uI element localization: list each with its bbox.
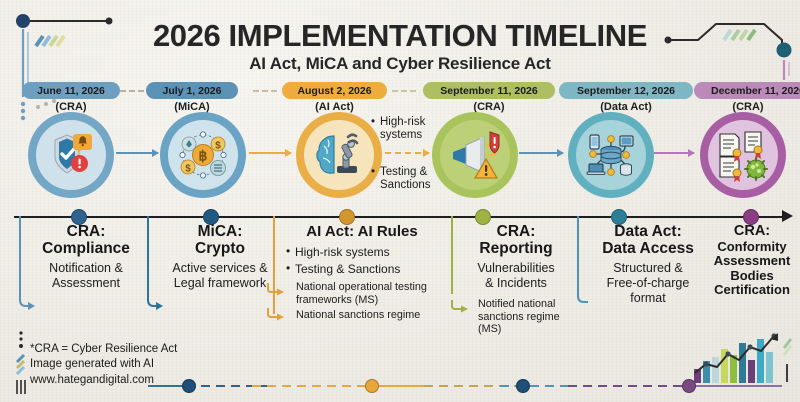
circle-connector-2-3 xyxy=(385,152,429,154)
icon-circle-4[interactable] xyxy=(568,112,654,198)
column-3-heading-line1: CRA: xyxy=(458,224,574,241)
bottom-track-segment-7 xyxy=(690,385,782,387)
mid-callout-bullet-1: • High-risk systems xyxy=(380,116,458,142)
infographic-canvas: 2026 IMPLEMENTATION TIMELINE AI Act, MiC… xyxy=(0,0,800,402)
column-5-heading-line2: Conformity Assessment Bodies Certificati… xyxy=(706,240,798,297)
icon-circle-5[interactable] xyxy=(700,112,786,198)
column-4-heading: Data Act: Data Access xyxy=(580,224,706,257)
column-0-elbow-arrow xyxy=(16,216,38,316)
data-network-icon xyxy=(582,126,640,184)
column-4-heading-line2: Data Access xyxy=(590,241,706,258)
shield-check-icon xyxy=(43,127,99,183)
milestone-column-5: CRA: Conformity Assessment Bodies Certif… xyxy=(706,224,798,297)
mid-callout-bullet-2: • Testing & Sanctions xyxy=(380,166,458,192)
column-3-heading: CRA: Reporting xyxy=(450,224,574,257)
column-1-heading: MiCA: Crypto xyxy=(150,224,282,257)
bottom-left-edge-decoration xyxy=(14,330,44,398)
column-3-line xyxy=(448,216,458,294)
column-5-heading: CRA: Conformity Assessment Bodies Certif… xyxy=(706,224,798,297)
page-title: 2026 IMPLEMENTATION TIMELINE xyxy=(0,20,800,51)
date-badge-4-label: September 12, 2026 xyxy=(577,85,675,97)
date-badge-2[interactable]: August 2, 2026 xyxy=(282,82,387,99)
circle-connector-0-1 xyxy=(116,152,158,154)
page-subtitle: AI Act, MiCA and Cyber Resilience Act xyxy=(0,54,800,74)
bottom-track-segment-2 xyxy=(252,385,370,387)
footer-line-1: *CRA = Cyber Resilience Act xyxy=(30,342,177,357)
date-badge-row: June 11, 2026 (CRA) July 1, 2026 (MiCA) … xyxy=(0,82,800,114)
column-1-summary: Active services & Legal framework xyxy=(150,261,282,291)
svg-text:$: $ xyxy=(215,141,221,152)
column-1-heading-line2: Crypto xyxy=(158,241,282,258)
circle-connector-4-5 xyxy=(654,152,694,154)
circle-connector-3-4 xyxy=(519,152,563,154)
column-1-heading-line1: MiCA: xyxy=(158,224,282,241)
bottom-right-edge-decoration xyxy=(782,336,800,398)
badge-connector-1 xyxy=(120,90,144,92)
icon-circle-2[interactable] xyxy=(296,112,382,198)
column-0-heading: CRA: Compliance xyxy=(22,224,142,257)
growth-chart-decoration xyxy=(690,333,790,383)
column-4-elbow-arrow xyxy=(574,216,598,312)
svg-text:฿: ฿ xyxy=(199,149,208,165)
date-badge-0-label: June 11, 2026 xyxy=(37,85,105,97)
column-0-heading-line1: CRA: xyxy=(30,224,142,241)
bottom-track-dot-0[interactable] xyxy=(182,379,196,393)
column-2-subnote-arrow-1 xyxy=(266,307,286,321)
column-2-subnote-1: National sanctions regime xyxy=(294,309,444,322)
column-0-summary: Notification & Assessment xyxy=(22,261,142,291)
mid-callout-bullet-2-label: Testing & Sanctions xyxy=(380,166,431,191)
timeline-node-3[interactable] xyxy=(475,209,491,225)
column-0-heading-line2: Compliance xyxy=(30,241,142,258)
column-2-bullet-1: Testing & Sanctions xyxy=(286,262,444,277)
date-badge-5[interactable]: December 11, 2026 xyxy=(694,82,800,99)
column-3-heading-line2: Reporting xyxy=(458,241,574,258)
column-4-summary-line1: Structured & xyxy=(590,261,706,276)
milestone-column-0: CRA: Compliance Notification & Assessmen… xyxy=(22,224,142,291)
milestone-column-4: Data Act: Data Access Structured & Free-… xyxy=(580,224,706,306)
column-5-heading-line1: CRA: xyxy=(706,224,798,240)
ai-brain-robot-icon xyxy=(310,126,368,184)
crypto-network-icon: ฿ $ $ xyxy=(174,126,232,184)
column-2-bullets: High-risk systems Testing & Sanctions xyxy=(272,245,444,277)
badge-connector-2 xyxy=(253,90,277,92)
column-2-heading: AI Act: AI Rules xyxy=(272,224,444,240)
column-3-subnote-arrow-0 xyxy=(450,299,470,313)
column-2-heading-line1: AI Act: AI Rules xyxy=(280,224,444,240)
column-1-elbow-arrow xyxy=(144,216,166,316)
date-badge-2-label: August 2, 2026 xyxy=(297,85,371,97)
date-badge-3-label: September 11, 2026 xyxy=(440,85,537,97)
bottom-track-segment-6 xyxy=(568,385,698,387)
column-3-subnotes: Notified national sanctions regime (MS) xyxy=(450,298,574,336)
column-3-summary-line1: Vulnerabilities xyxy=(458,261,574,276)
column-2-subnotes: National operational testing frameworks … xyxy=(272,281,444,322)
column-2-subnote-0: National operational testing frameworks … xyxy=(294,281,444,306)
bottom-track-segment-0 xyxy=(148,385,186,387)
column-2-bullet-0: High-risk systems xyxy=(286,245,444,260)
column-0-summary-line1: Notification & xyxy=(30,261,142,276)
icon-circle-0[interactable] xyxy=(28,112,114,198)
certificate-docs-icon xyxy=(714,126,772,184)
icon-circle-1[interactable]: ฿ $ $ xyxy=(160,112,246,198)
footer-notes: *CRA = Cyber Resilience Act Image genera… xyxy=(30,342,177,388)
column-4-summary: Structured & Free-of-charge format xyxy=(580,261,706,306)
footer-line-2: Image generated with AI xyxy=(30,357,177,372)
date-badge-3[interactable]: September 11, 2026 xyxy=(423,82,555,99)
circle-connector-1-2 xyxy=(249,152,291,154)
milestone-column-2: AI Act: AI Rules High-risk systems Testi… xyxy=(272,224,444,325)
column-4-summary-line2: Free-of-charge format xyxy=(590,276,706,306)
timeline-axis-arrow xyxy=(782,210,793,222)
bottom-track-dot-2[interactable] xyxy=(516,379,530,393)
bottom-track-segment-5 xyxy=(500,385,572,387)
column-0-summary-line2: Assessment xyxy=(30,276,142,291)
date-badge-1[interactable]: July 1, 2026 xyxy=(146,82,238,99)
column-2-subnote-arrow-0 xyxy=(266,282,286,296)
date-badge-5-label: December 11, 2026 xyxy=(711,85,800,97)
date-badge-1-label: July 1, 2026 xyxy=(163,85,222,97)
svg-text:$: $ xyxy=(185,164,191,175)
column-3-subnote-0: Notified national sanctions regime (MS) xyxy=(476,298,570,336)
column-1-summary-line1: Active services & xyxy=(158,261,282,276)
milestone-column-1: MiCA: Crypto Active services & Legal fra… xyxy=(150,224,282,291)
column-4-heading-line1: Data Act: xyxy=(590,224,706,241)
badge-connector-3 xyxy=(392,90,416,92)
mid-callout-bullet-1-label: High-risk systems xyxy=(380,116,425,141)
icon-circle-row: ฿ $ $ xyxy=(0,112,800,212)
bottom-track-dot-1[interactable] xyxy=(365,379,379,393)
date-badge-4[interactable]: September 12, 2026 xyxy=(559,82,693,99)
milestone-column-3: CRA: Reporting Vulnerabilities & Inciden… xyxy=(450,224,574,339)
date-badge-0[interactable]: June 11, 2026 xyxy=(22,82,120,99)
column-1-summary-line2: Legal framework xyxy=(158,276,282,291)
column-3-summary: Vulnerabilities & Incidents xyxy=(450,261,574,291)
timeline-axis xyxy=(14,216,782,218)
column-3-summary-line2: & Incidents xyxy=(458,276,574,291)
